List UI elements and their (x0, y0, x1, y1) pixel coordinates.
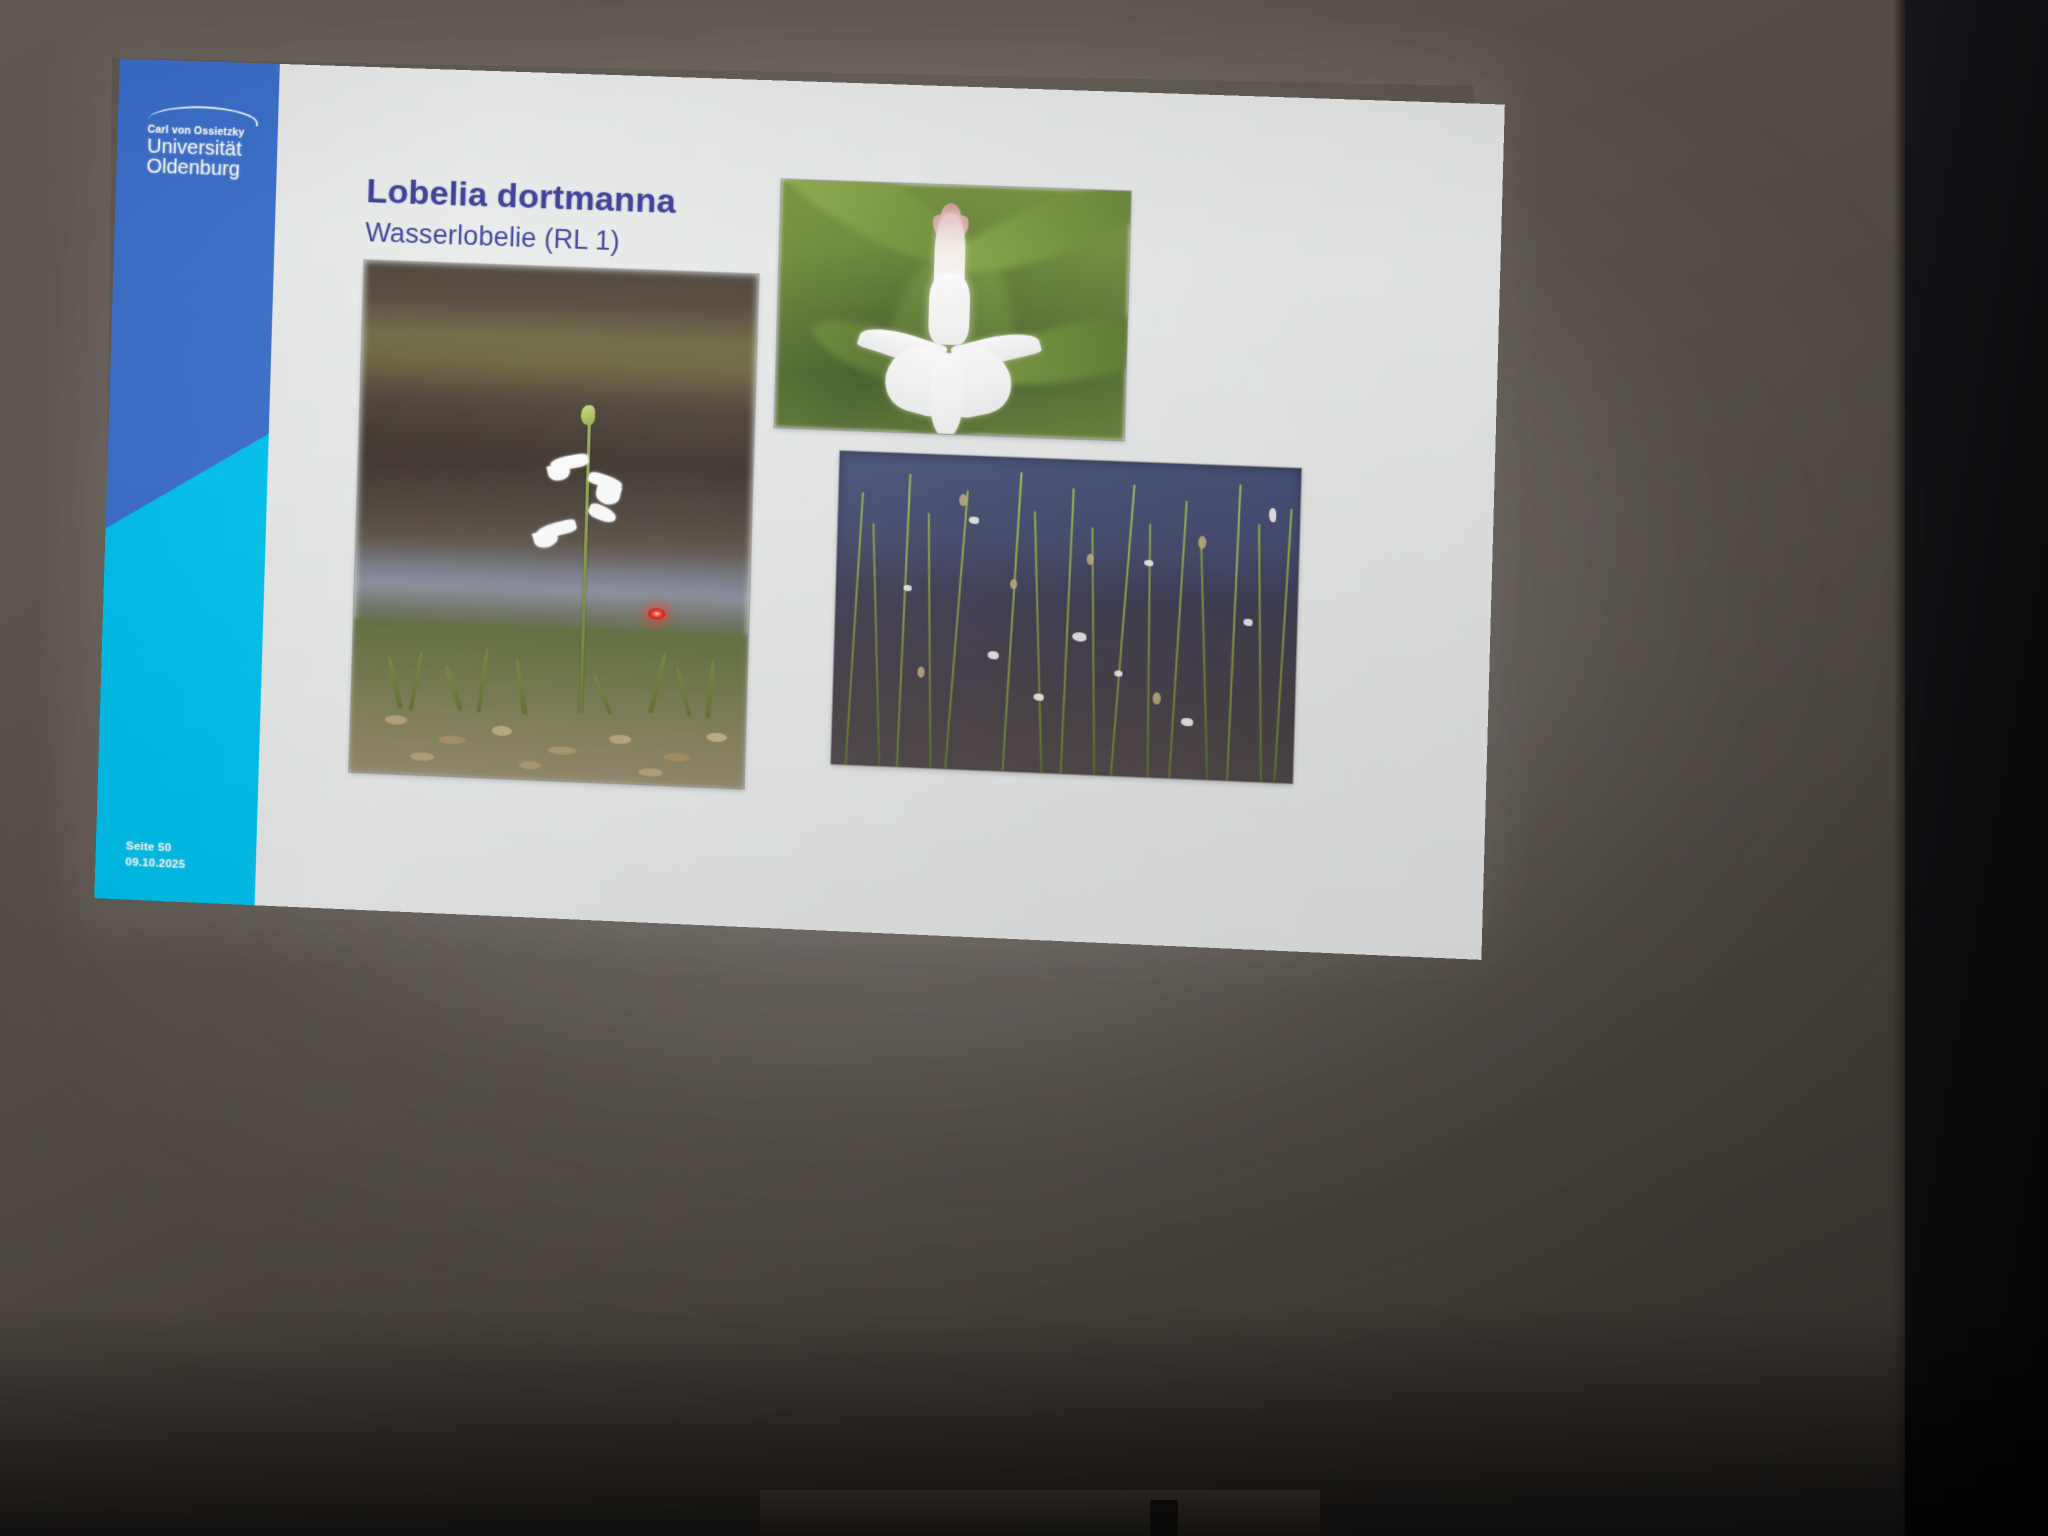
presentation-slide[interactable]: Carl von Ossietzky Universität Oldenburg… (102, 58, 1474, 926)
white-flower (1144, 560, 1153, 566)
slide-footer: Seite 50 09.10.2025 (125, 838, 186, 874)
projection-screen: Carl von Ossietzky Universität Oldenburg… (0, 0, 2048, 1536)
flower-bud (581, 405, 596, 426)
white-flower (987, 651, 998, 660)
slide-title: Lobelia dortmanna (366, 172, 676, 222)
white-flower (903, 585, 911, 591)
population-photo[interactable] (831, 451, 1301, 784)
flower-macro-photo[interactable] (775, 179, 1131, 440)
white-flower (1114, 670, 1122, 676)
white-flower (1033, 693, 1043, 701)
slide-date: 09.10.2025 (125, 855, 185, 874)
white-flower (1269, 508, 1277, 522)
white-flower (1181, 718, 1194, 727)
white-flower (1243, 619, 1252, 626)
slide-subtitle: Wasserlobelie (RL 1) (365, 217, 620, 257)
laser-pointer-dot (648, 608, 666, 620)
flower-body (928, 273, 971, 345)
white-flower (1072, 632, 1087, 642)
university-logo: Carl von Ossietzky Universität Oldenburg (146, 105, 268, 181)
habitat-photo[interactable] (349, 260, 758, 788)
white-flower (969, 517, 979, 524)
logo-arc-icon (148, 105, 259, 127)
logo-line-oldenburg: Oldenburg (146, 156, 267, 180)
